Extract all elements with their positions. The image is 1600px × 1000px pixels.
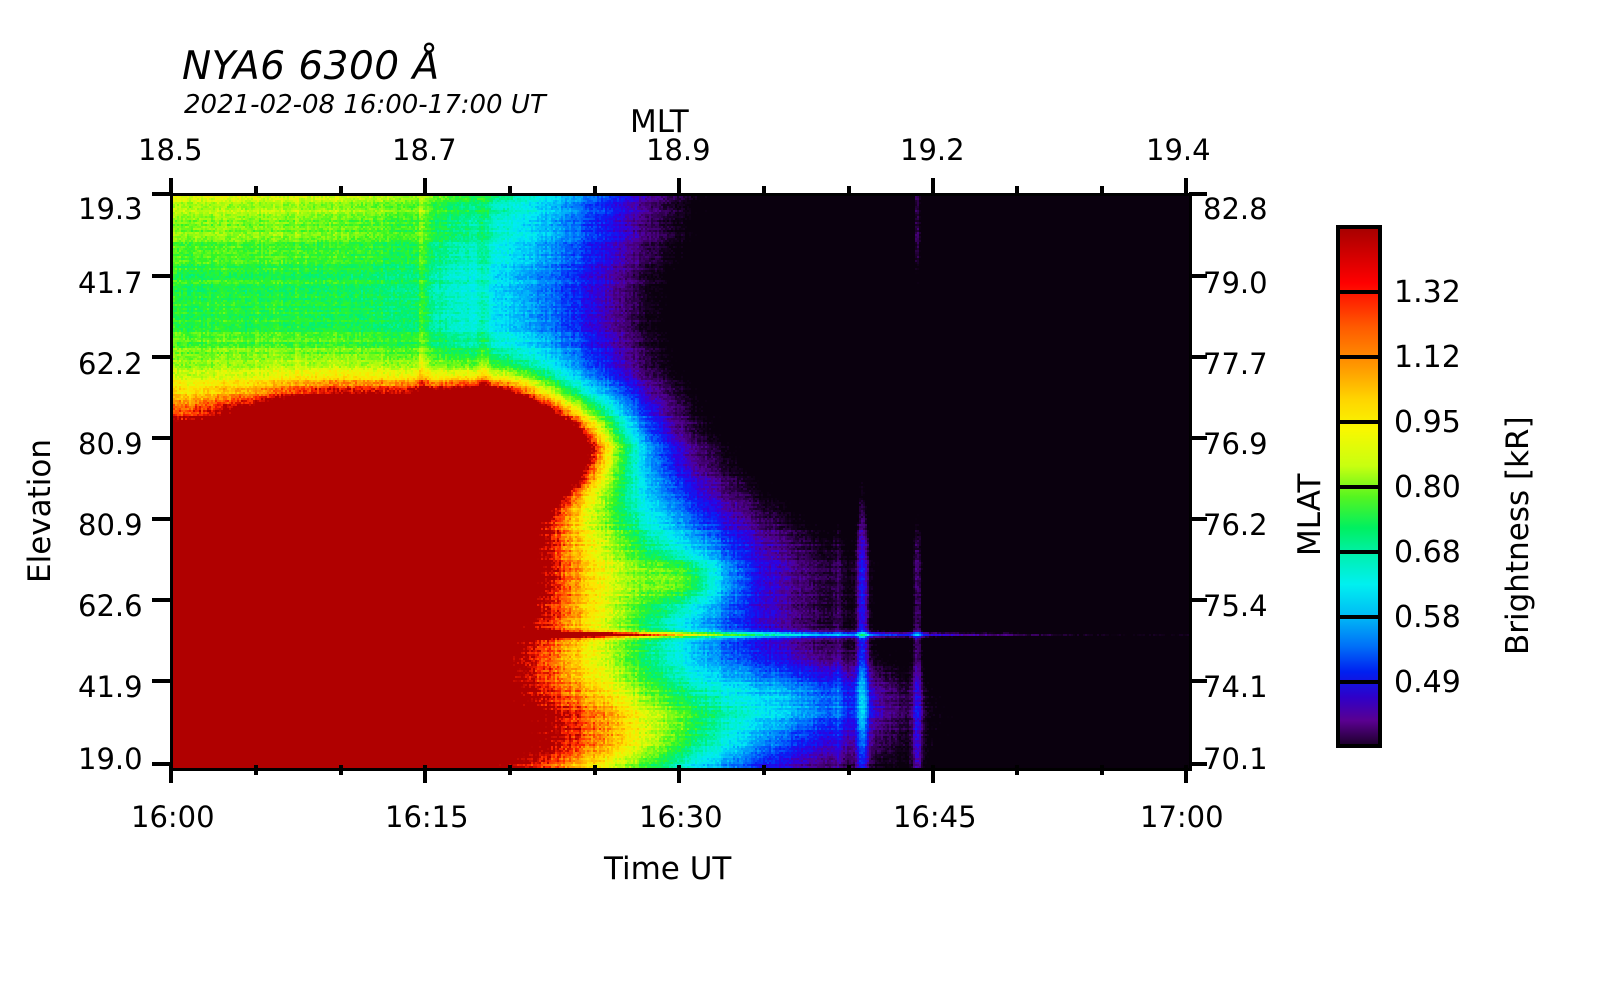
bottom-minor-tick (508, 765, 512, 775)
top-axis-tick-label-3: 19.2 (900, 133, 965, 167)
right-axis-title: MLAT (1292, 474, 1328, 556)
colorbar-tick-label-2: 0.95 (1394, 405, 1461, 440)
right-major-tick (1189, 274, 1207, 278)
colorbar-tick-label-1: 1.12 (1394, 340, 1461, 375)
right-axis-tick-label-4: 76.2 (1203, 508, 1268, 542)
right-major-tick (1189, 192, 1207, 196)
colorbar-tick-label-4: 0.68 (1394, 535, 1461, 570)
bottom-minor-tick (593, 765, 597, 775)
bottom-major-tick (931, 765, 935, 783)
left-axis-tick-label-5: 62.6 (78, 589, 143, 623)
left-major-tick (152, 355, 170, 359)
colorbar-separator (1336, 290, 1382, 294)
top-axis-tick-label-4: 19.4 (1146, 133, 1211, 167)
bottom-minor-tick (762, 765, 766, 775)
left-axis-tick-label-0: 19.3 (78, 192, 143, 226)
colorbar-separator (1336, 420, 1382, 424)
colorbar-tick-label-5: 0.58 (1394, 600, 1461, 635)
left-axis-title: Elevation (22, 439, 58, 583)
bottom-minor-tick (339, 765, 343, 775)
left-axis-tick-label-1: 41.7 (78, 266, 143, 300)
right-axis-tick-label-2: 77.7 (1203, 347, 1268, 381)
bottom-major-tick (1184, 765, 1188, 783)
right-axis-tick-label-3: 76.9 (1203, 427, 1268, 461)
right-major-tick (1189, 355, 1207, 359)
right-axis-tick-label-5: 75.4 (1203, 589, 1268, 623)
colorbar-separator (1336, 485, 1382, 489)
keogram-heatmap (173, 196, 1189, 768)
figure-root: NYA6 6300 Å 2021-02-08 16:00-17:00 UT ML… (0, 0, 1600, 1000)
colorbar-tick-label-3: 0.80 (1394, 470, 1461, 505)
right-major-tick (1189, 679, 1207, 683)
bottom-major-tick (169, 765, 173, 783)
right-major-tick (1189, 517, 1207, 521)
bottom-axis-tick-label-1: 16:15 (385, 800, 469, 834)
left-axis-tick-label-2: 62.2 (78, 347, 143, 381)
left-major-tick (152, 679, 170, 683)
right-major-tick (1189, 762, 1207, 766)
right-major-tick (1189, 436, 1207, 440)
right-axis-tick-label-6: 74.1 (1203, 670, 1268, 704)
right-axis-tick-label-7: 70.1 (1203, 742, 1268, 776)
keogram-plot-area[interactable] (170, 193, 1192, 771)
colorbar-separator (1336, 550, 1382, 554)
left-major-tick (152, 192, 170, 196)
left-axis-tick-label-6: 41.9 (78, 670, 143, 704)
bottom-minor-tick (254, 765, 258, 775)
bottom-axis-tick-label-0: 16:00 (131, 800, 215, 834)
left-major-tick (152, 517, 170, 521)
colorbar-separator (1336, 615, 1382, 619)
left-axis-tick-label-3: 80.9 (78, 427, 143, 461)
bottom-major-tick (677, 765, 681, 783)
left-axis-tick-label-7: 19.0 (78, 742, 143, 776)
colorbar-tick-label-0: 1.32 (1394, 275, 1461, 310)
bottom-axis-tick-label-4: 17:00 (1140, 800, 1224, 834)
bottom-axis-tick-label-2: 16:30 (639, 800, 723, 834)
top-axis-tick-label-1: 18.7 (392, 133, 457, 167)
top-axis-tick-label-2: 18.9 (646, 133, 711, 167)
colorbar-tick-label-6: 0.49 (1394, 665, 1461, 700)
top-axis-tick-label-0: 18.5 (138, 133, 203, 167)
left-axis-tick-label-4: 80.9 (78, 508, 143, 542)
left-major-tick (152, 436, 170, 440)
bottom-minor-tick (847, 765, 851, 775)
colorbar-separator (1336, 355, 1382, 359)
colorbar-title: Brightness [kR] (1500, 416, 1536, 655)
left-major-tick (152, 274, 170, 278)
page-subtitle: 2021-02-08 16:00-17:00 UT (184, 90, 546, 120)
right-major-tick (1189, 598, 1207, 602)
right-axis-tick-label-0: 82.8 (1203, 192, 1268, 226)
right-axis-tick-label-1: 79.0 (1203, 266, 1268, 300)
bottom-major-tick (423, 765, 427, 783)
bottom-minor-tick (1100, 765, 1104, 775)
bottom-axis-tick-label-3: 16:45 (893, 800, 977, 834)
left-major-tick (152, 598, 170, 602)
bottom-axis-title: Time UT (604, 851, 731, 887)
left-major-tick (152, 762, 170, 766)
page-title: NYA6 6300 Å (182, 44, 440, 89)
colorbar-separator (1336, 680, 1382, 684)
bottom-minor-tick (1015, 765, 1019, 775)
